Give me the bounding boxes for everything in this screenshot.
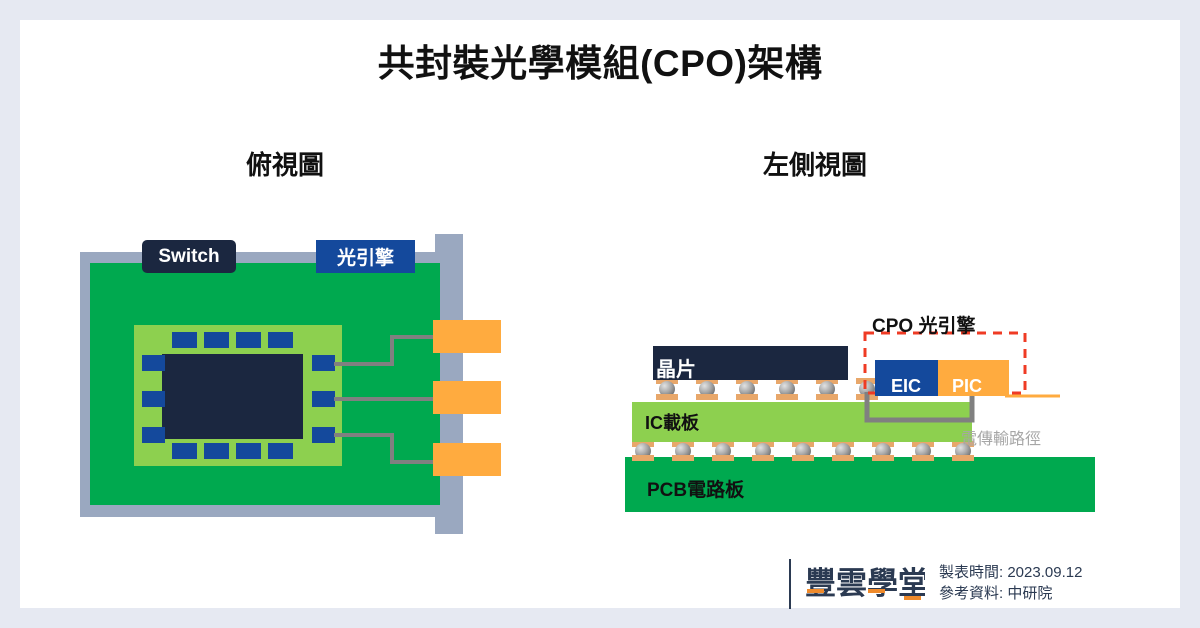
eic-block (875, 360, 938, 396)
footer-meta-value-source: 中研院 (1007, 585, 1052, 602)
footer-meta-row-source: 參考資料: 中研院 (939, 583, 1082, 604)
footer-meta-key-source: 參考資料: (939, 585, 1003, 602)
solder-ball-row-upper (656, 378, 878, 400)
footer: 豐雲學堂 製表時間: 2023.09.12 參考資料: 中研院 (789, 556, 1129, 612)
solder-ball-row-lower (632, 441, 974, 461)
footer-divider (789, 559, 791, 609)
brand-logo-text: 豐雲學堂 (805, 566, 925, 601)
footer-meta-row-date: 製表時間: 2023.09.12 (939, 562, 1082, 583)
slide-card: 共封裝光學模組(CPO)架構 俯視圖 左側視圖 (20, 20, 1180, 608)
pcb-board-side-view (625, 457, 1095, 512)
footer-meta-value-date: 2023.09.12 (1007, 564, 1082, 581)
chip-die-side-view (653, 346, 848, 380)
side-view-diagram (20, 20, 1180, 608)
footer-meta-key-date: 製表時間: (939, 564, 1003, 581)
brand-logo: 豐雲學堂 (805, 562, 925, 604)
pic-block (938, 360, 1009, 396)
footer-meta: 製表時間: 2023.09.12 參考資料: 中研院 (939, 562, 1082, 604)
